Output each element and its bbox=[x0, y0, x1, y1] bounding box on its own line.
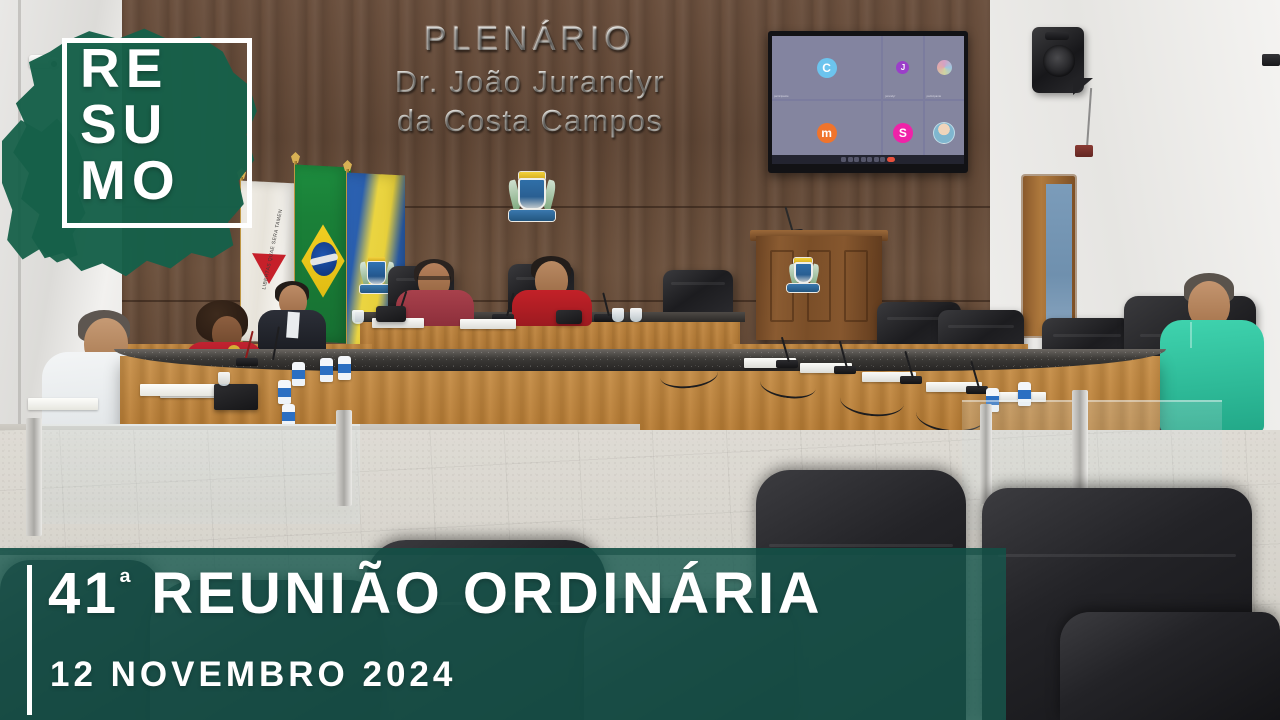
vc-tile: J jurandyr bbox=[883, 36, 922, 99]
vc-avatar-initial: J bbox=[896, 61, 909, 74]
vc-avatar-initial: m bbox=[817, 123, 837, 143]
water-bottle bbox=[278, 380, 291, 404]
glass-post bbox=[336, 410, 352, 506]
vc-avatar-initial: S bbox=[893, 123, 913, 143]
video-conference-display: C participante J jurandyr participante m… bbox=[772, 36, 964, 164]
plenary-wall-sign: PLENÁRIO Dr. João Jurandyr da Costa Camp… bbox=[330, 20, 730, 141]
foreground-chair-arm[interactable] bbox=[1060, 612, 1280, 720]
vc-share-button[interactable] bbox=[854, 157, 859, 162]
ceiling-camera-right bbox=[1262, 54, 1280, 66]
logo-line-1: RE bbox=[80, 42, 252, 96]
water-bottle bbox=[320, 358, 333, 382]
vc-tile: participante bbox=[925, 36, 964, 99]
wall-junction-box bbox=[1075, 145, 1093, 157]
water-bottle bbox=[338, 356, 351, 380]
tablet-device[interactable] bbox=[214, 384, 258, 410]
podium-panel bbox=[844, 250, 868, 322]
banner-accent-line bbox=[27, 565, 32, 715]
resumo-logo: RE SU MO bbox=[0, 18, 300, 293]
vc-mic-button[interactable] bbox=[841, 157, 846, 162]
banner-title-number: 41 bbox=[48, 561, 120, 626]
sign-line-1: PLENÁRIO bbox=[330, 20, 730, 59]
vc-avatar-initial: C bbox=[817, 58, 837, 78]
banner-top-strip bbox=[0, 548, 1006, 555]
banner-title: 41ª REUNIÃO ORDINÁRIA bbox=[48, 565, 998, 623]
nameplate bbox=[460, 319, 516, 329]
coa-ribbon bbox=[509, 210, 555, 221]
vc-chat-button[interactable] bbox=[861, 157, 866, 162]
device[interactable] bbox=[556, 310, 582, 324]
logo-text: RE SU MO bbox=[62, 42, 252, 208]
glass-post bbox=[26, 418, 42, 536]
pa-speaker-tweeter bbox=[1045, 32, 1069, 40]
documents bbox=[28, 398, 98, 410]
vc-avatar-photo bbox=[933, 122, 955, 144]
wall-television[interactable]: C participante J jurandyr participante m… bbox=[768, 31, 968, 173]
vc-participant-name: participante bbox=[774, 95, 789, 98]
water-cup bbox=[352, 310, 364, 324]
vc-participants-button[interactable] bbox=[867, 157, 872, 162]
banner-title-ordinal: ª bbox=[120, 567, 132, 600]
granite-texture bbox=[114, 349, 1166, 371]
sign-line-2: Dr. João Jurandyr bbox=[330, 62, 730, 102]
eyeglasses bbox=[417, 276, 451, 280]
sign-line-3: da Costa Campos bbox=[330, 101, 730, 141]
dress-shirt bbox=[286, 312, 300, 339]
microphone-base bbox=[236, 358, 258, 366]
vc-more-button[interactable] bbox=[880, 157, 885, 162]
vc-leave-button[interactable] bbox=[887, 157, 895, 162]
water-cup bbox=[218, 372, 230, 386]
coa-shield bbox=[794, 262, 813, 284]
coa-shield bbox=[367, 261, 386, 285]
coa-shield bbox=[518, 178, 546, 210]
door-glass-panel bbox=[1046, 184, 1072, 336]
logo-line-3: MO bbox=[80, 154, 252, 208]
banner-title-text: REUNIÃO ORDINÁRIA bbox=[151, 561, 823, 626]
coat-of-arms-icon bbox=[506, 168, 558, 226]
vc-participant-name: participante bbox=[927, 95, 942, 98]
coa-ribbon bbox=[787, 284, 819, 292]
banner-date: 12 NOVEMBRO 2024 bbox=[50, 655, 1000, 695]
logo-line-2: SU bbox=[80, 98, 252, 152]
polo-placket bbox=[1190, 322, 1208, 348]
water-bottle bbox=[292, 362, 305, 386]
vc-participant-name: jurandyr bbox=[885, 95, 895, 98]
vc-reactions-button[interactable] bbox=[874, 157, 879, 162]
podium-coat-of-arms-icon bbox=[786, 256, 820, 296]
glass-partition bbox=[30, 424, 360, 524]
device[interactable] bbox=[376, 306, 406, 322]
vc-tile: C participante bbox=[772, 36, 881, 99]
pa-speaker-cone bbox=[1043, 45, 1075, 77]
water-cup bbox=[612, 308, 624, 322]
screenshot-root: PLENÁRIO Dr. João Jurandyr da Costa Camp… bbox=[0, 0, 1280, 720]
vc-toolbar[interactable] bbox=[772, 155, 964, 164]
vc-camera-button[interactable] bbox=[848, 157, 853, 162]
glass-post bbox=[980, 404, 992, 504]
vc-avatar-image bbox=[937, 60, 952, 75]
water-cup bbox=[630, 308, 642, 322]
documents bbox=[140, 384, 222, 396]
